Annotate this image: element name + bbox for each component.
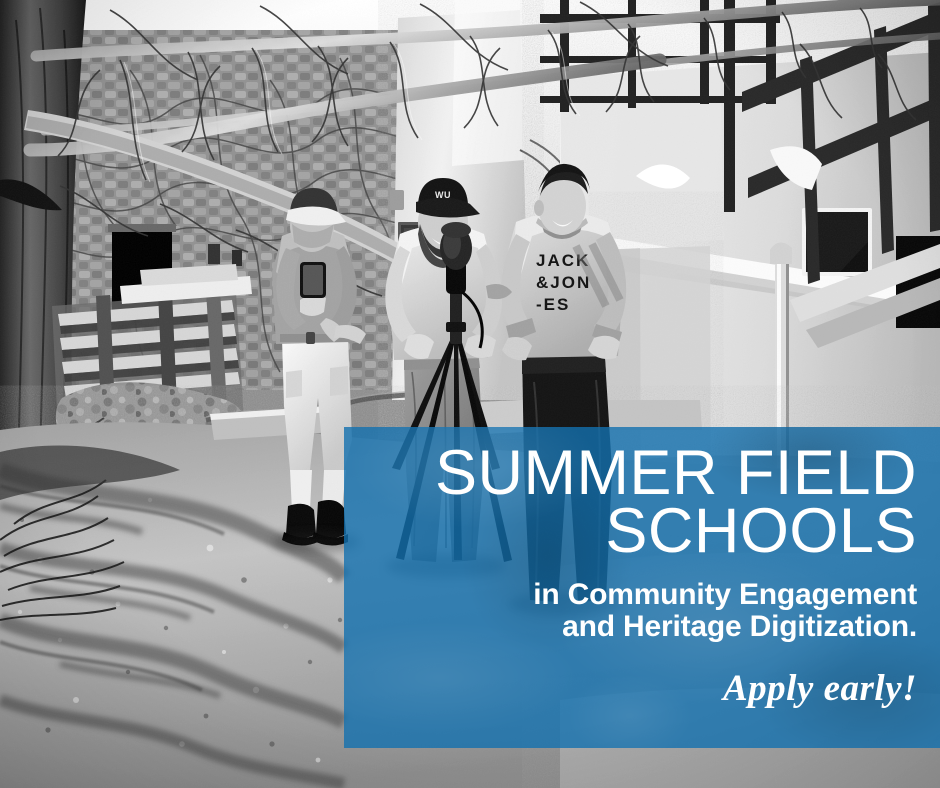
- subhead-line-2: and Heritage Digitization.: [368, 611, 917, 643]
- poster-canvas: WU: [0, 0, 940, 788]
- call-to-action-text: Apply early!: [368, 670, 917, 707]
- blue-overlay-panel: SUMMER FIELDSCHOOLS in Community Engagem…: [344, 427, 940, 748]
- poster-headline: SUMMER FIELDSCHOOLS: [368, 445, 917, 561]
- poster-subheadline: in Community Engagementand Heritage Digi…: [368, 579, 917, 644]
- headline-line-2: SCHOOLS: [368, 503, 917, 561]
- overlay-text-block: SUMMER FIELDSCHOOLS in Community Engagem…: [344, 427, 940, 748]
- subhead-line-1: in Community Engagement: [533, 578, 917, 611]
